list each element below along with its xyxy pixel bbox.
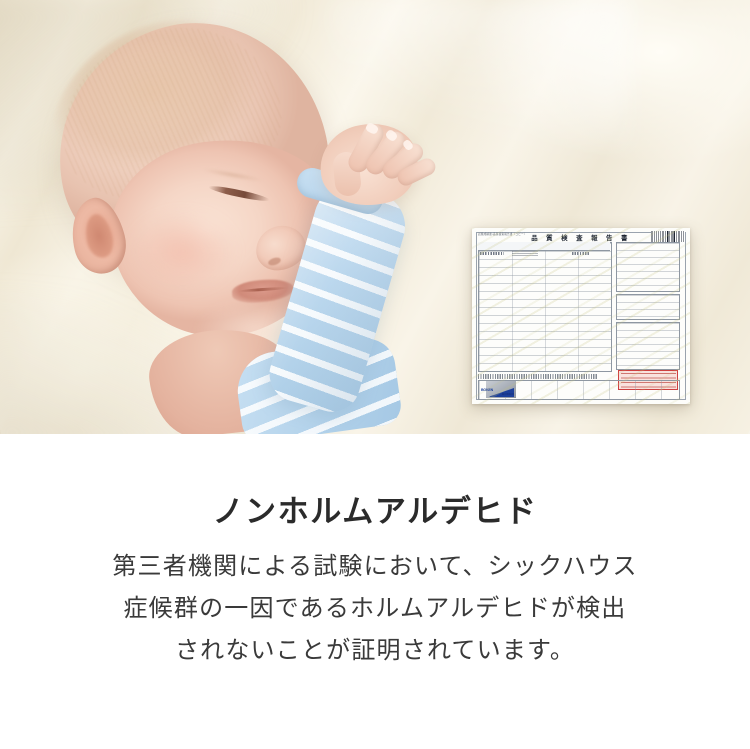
- document-result-table: [478, 242, 612, 372]
- document-table-header-row: [478, 242, 610, 251]
- description-line-3: されないことが証明されています。: [0, 630, 750, 672]
- description-line-1: 第三者機関による試験において、シックハウス: [0, 546, 750, 588]
- document-info-panel-bottom: [616, 322, 680, 370]
- document-seal-logo: BOKEN: [481, 388, 493, 392]
- document-table-cell-text: [480, 252, 504, 255]
- document-title: 品 質 検 査 報 告 書: [531, 233, 631, 242]
- feature-text-section: ノンホルムアルデヒド 第三者機関による試験において、シックハウス 症候群の一因で…: [0, 434, 750, 749]
- document-table-cell-text-right: [572, 252, 590, 255]
- baby-cheek: [128, 210, 238, 292]
- page-title: ノンホルムアルデヒド: [0, 486, 750, 531]
- barcode-icon: [651, 231, 685, 242]
- feature-description: 第三者機関による試験において、シックハウス 症候群の一因であるホルムアルデヒドが…: [0, 546, 750, 672]
- quality-inspection-report-document: 試験成績書・品質検査報告書（コピー） 品 質 検 査 報 告 書 BOKEN B…: [472, 228, 690, 404]
- document-footnote: [478, 374, 598, 379]
- document-info-panel-middle: [616, 294, 680, 320]
- document-seal-wordmark: BOKEN: [502, 392, 514, 396]
- product-feature-page: 試験成績書・品質検査報告書（コピー） 品 質 検 査 報 告 書 BOKEN B…: [0, 0, 750, 749]
- document-header-note: 試験成績書・品質検査報告書（コピー）: [478, 232, 527, 236]
- hero-photo: 試験成績書・品質検査報告書（コピー） 品 質 検 査 報 告 書 BOKEN B…: [0, 0, 750, 434]
- document-table-value-text: [512, 251, 538, 257]
- document-info-panel-top: [616, 242, 680, 292]
- description-line-2: 症候群の一因であるホルムアルデヒドが検出: [0, 588, 750, 630]
